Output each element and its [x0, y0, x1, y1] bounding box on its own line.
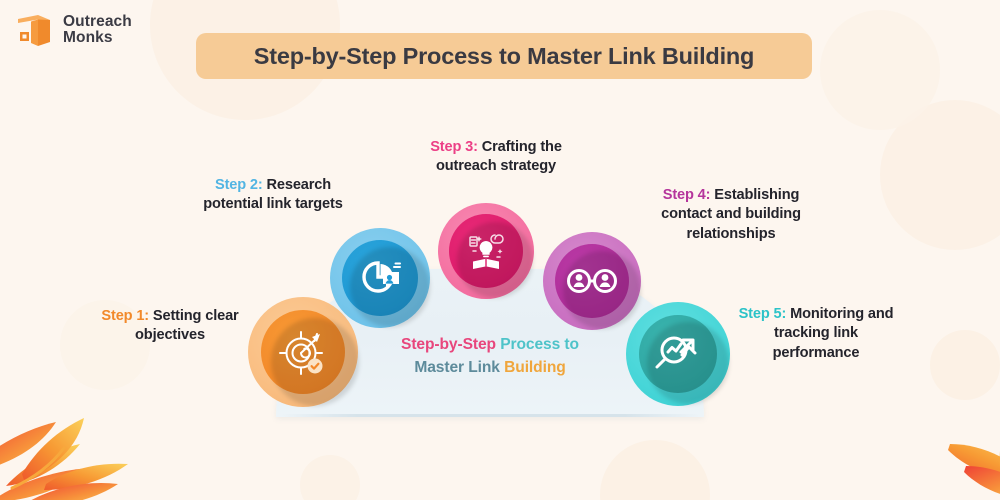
brand-name-line1: Outreach	[63, 13, 132, 30]
arch-title-word-2: Process to	[500, 336, 579, 353]
background-blob	[820, 10, 940, 130]
arch-title-word-4: Building	[504, 359, 566, 376]
step-5-key: Step 5:	[739, 306, 787, 322]
step-label-1: Step 1: Setting clear objectives	[72, 307, 268, 346]
step-5-line-b: tracking link	[774, 325, 858, 341]
step-node-2[interactable]	[330, 228, 430, 328]
step-node-3[interactable]	[438, 203, 534, 299]
page-title: Step-by-Step Process to Master Link Buil…	[254, 43, 754, 70]
step-2-line-b: potential link targets	[203, 196, 342, 212]
brand-name: Outreach Monks	[63, 14, 132, 47]
network-connection-icon	[565, 261, 619, 301]
step-2-line-a: Research	[267, 177, 332, 193]
infographic-canvas: Outreach Monks Step-by-Step Process to M…	[0, 0, 1000, 500]
step-5-line-a: Monitoring and	[790, 306, 893, 322]
audience-pie-chart-icon	[356, 254, 404, 302]
step-4-line-c: relationships	[687, 226, 776, 242]
step-node-4[interactable]	[543, 232, 641, 330]
brand-logo[interactable]: Outreach Monks	[14, 10, 132, 50]
arch-baseline	[282, 414, 700, 417]
step-3-line-b: outreach strategy	[436, 158, 556, 174]
step-5-line-c: performance	[773, 345, 860, 361]
book-lightbulb-idea-icon	[462, 227, 510, 275]
step-1-line-a: Setting clear	[153, 308, 239, 324]
step-4-key: Step 4:	[663, 187, 711, 203]
magnifier-trend-icon	[653, 329, 703, 379]
step-4-line-a: Establishing	[714, 187, 799, 203]
step-2-key: Step 2:	[215, 177, 263, 193]
cube-logo-icon	[14, 10, 54, 50]
background-blob	[600, 440, 710, 500]
step-label-4: Step 4: Establishing contact and buildin…	[636, 186, 826, 244]
step-label-3: Step 3: Crafting the outreach strategy	[398, 138, 594, 177]
page-title-banner: Step-by-Step Process to Master Link Buil…	[196, 33, 812, 79]
leaf-decoration-right-icon	[888, 386, 1000, 500]
target-arrow-icon	[276, 325, 330, 379]
arch-title-word-1: Step-by-Step	[401, 336, 496, 353]
step-3-key: Step 3:	[430, 139, 478, 155]
step-4-line-b: contact and building	[661, 206, 801, 222]
step-1-line-b: objectives	[135, 327, 205, 343]
leaf-decoration-left-icon	[0, 378, 184, 500]
step-1-key: Step 1:	[101, 308, 149, 324]
step-label-2: Step 2: Research potential link targets	[178, 176, 368, 215]
background-blob	[300, 455, 360, 500]
step-3-line-a: Crafting the	[482, 139, 562, 155]
arch-title-word-3: Master Link	[414, 359, 500, 376]
step-label-5: Step 5: Monitoring and tracking link per…	[714, 305, 918, 363]
brand-name-line2: Monks	[63, 29, 113, 46]
